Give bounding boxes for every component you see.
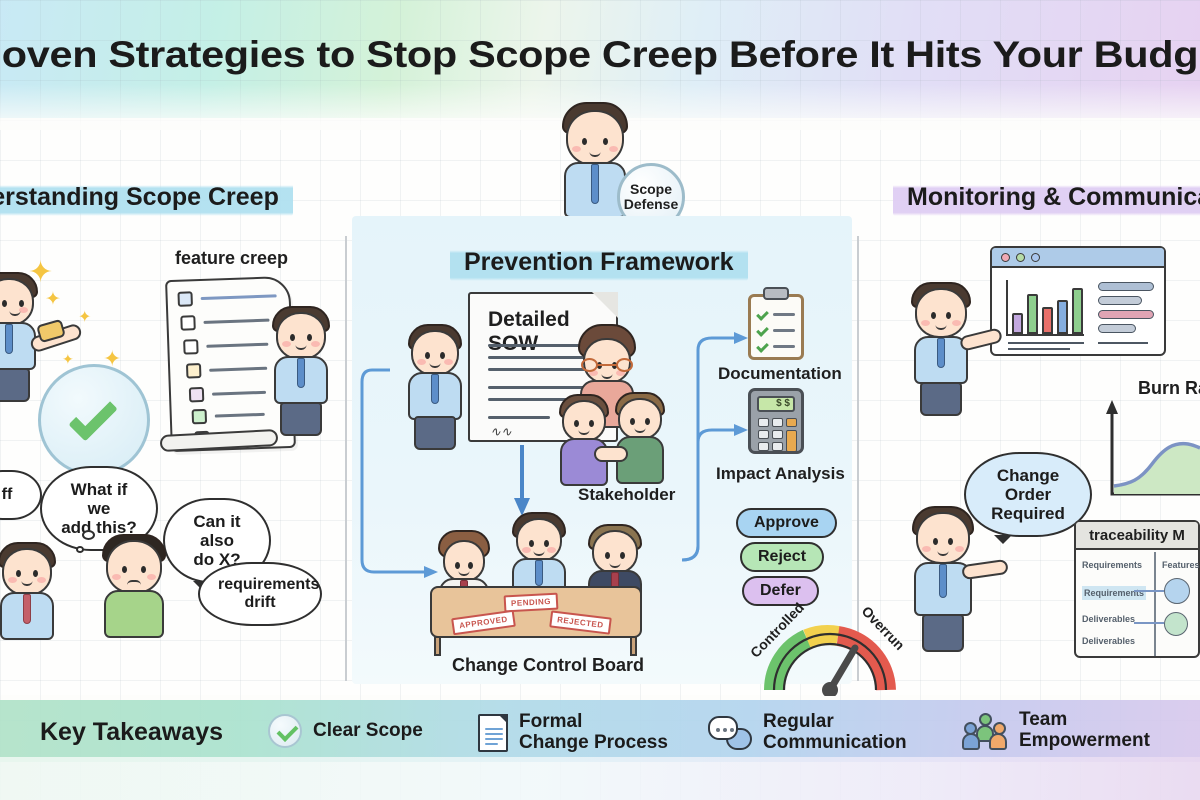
scroll-row	[180, 313, 269, 331]
stakeholder-right-mouth	[635, 428, 646, 433]
dashboard-list-item	[1098, 310, 1154, 319]
sparkle-icon-1: ✦	[28, 258, 53, 288]
change-order-required-bubble: Change Order Required	[964, 452, 1092, 537]
matrix-column-header: Features	[1162, 560, 1200, 570]
page-title: oven Strategies to Stop Scope Creep Befo…	[0, 34, 1200, 76]
documentation-label: Documentation	[718, 364, 842, 384]
scope-health-gauge: Controlled Overrun	[760, 620, 900, 701]
clipboard-row	[757, 311, 795, 318]
presenter-necktie	[431, 374, 439, 404]
monitoring-cheek-l	[922, 546, 931, 552]
calculator-key	[772, 418, 783, 427]
matrix-column-divider	[1154, 552, 1156, 656]
polisher-legs	[0, 368, 30, 402]
chart-bar	[1027, 294, 1038, 334]
decision-pill-reject[interactable]: Reject	[740, 542, 824, 572]
polisher-eye-left	[2, 300, 7, 307]
presenter-head	[411, 330, 459, 376]
sparkle-icon-2: ✦	[45, 290, 61, 309]
scroll-row	[189, 385, 266, 403]
stamp-rejected: REJECTED	[549, 610, 611, 634]
matrix-connector	[1134, 590, 1164, 592]
stakeholder-left-head	[562, 400, 606, 442]
checkbox-icon	[186, 363, 202, 379]
takeaway-formal-change-process: Formal Change Process	[478, 712, 668, 753]
stakeholder-left-eye-l	[574, 420, 579, 427]
clipboard-line	[773, 329, 795, 332]
matrix-row-label: Deliverables	[1082, 636, 1135, 646]
presenter-cheek-left	[417, 359, 426, 365]
sow-signature: ∿∿	[490, 424, 512, 440]
burn-rate-label: Burn Rat	[1138, 378, 1200, 399]
dashboard-footer-line	[1008, 342, 1084, 344]
dash-presenter-mouth	[936, 325, 947, 330]
key-takeaways-title: Key Takeaways	[40, 718, 223, 747]
matrix-title: traceability M	[1076, 522, 1198, 550]
dashboard-list-item	[1098, 282, 1154, 291]
chart-bar	[1012, 313, 1023, 334]
presenter-eye-left	[425, 352, 430, 359]
section-heading-center: Prevention Framework	[450, 245, 748, 282]
scroll-text-line	[209, 367, 267, 372]
monitoring-eye-r	[948, 538, 953, 545]
calculator-key	[772, 430, 783, 439]
holder-eye-right	[307, 334, 312, 341]
matrix-connector	[1134, 622, 1164, 624]
ccb-center-cheek-r	[547, 547, 556, 553]
questioner-necktie	[23, 594, 31, 624]
checkbox-icon	[183, 339, 199, 355]
clean-scope-check-circle	[38, 364, 150, 476]
ccb-left-head	[443, 540, 485, 582]
window-dot-red[interactable]	[1001, 253, 1010, 262]
chat-dot	[730, 728, 734, 732]
scroll-row	[192, 407, 265, 425]
document-line	[485, 728, 503, 730]
document-line	[485, 738, 503, 740]
document-line	[485, 743, 498, 745]
chart-bar	[1072, 288, 1083, 334]
dash-presenter-legs	[920, 382, 962, 416]
calculator-key-equals	[786, 430, 797, 452]
burn-rate-chart	[1100, 398, 1200, 508]
check-icon	[756, 340, 769, 353]
panel-divider-left	[345, 236, 347, 681]
scroll-row	[183, 337, 268, 355]
questioning-character	[0, 548, 60, 688]
clipboard-clip	[763, 287, 789, 300]
checkbox-checked-icon	[192, 409, 208, 425]
stakeholder-right-eye-l	[630, 418, 635, 425]
dashboard-list-item	[1098, 296, 1142, 305]
analyst-mouth	[602, 374, 613, 379]
dash-presenter-cheek-l	[921, 320, 930, 326]
mascot-cheek-right	[609, 146, 618, 152]
questioner-cheek-right	[37, 577, 46, 583]
change-control-board-label: Change Control Board	[452, 655, 644, 676]
decision-pill-approve[interactable]: Approve	[736, 508, 837, 538]
monitoring-character	[908, 512, 978, 672]
monitoring-legs	[922, 614, 964, 652]
questioner-eye-left	[16, 570, 21, 577]
holder-cheek-left	[282, 341, 291, 347]
takeaway-label: Clear Scope	[313, 721, 423, 742]
clipboard-icon	[748, 294, 804, 360]
decision-pill-defer[interactable]: Defer	[742, 576, 819, 606]
check-icon	[756, 324, 769, 337]
checkbox-icon	[180, 315, 196, 331]
scope-defense-line2: Defense	[624, 197, 678, 212]
document-icon	[478, 714, 508, 752]
chat-dot	[716, 728, 720, 732]
scroll-text-line	[201, 294, 277, 300]
monitoring-head	[916, 512, 970, 564]
ccb-right-eye-r	[620, 552, 625, 559]
sow-text-line	[488, 416, 550, 419]
dashboard-footer-line	[1098, 342, 1148, 344]
dash-presenter-eye-r	[946, 312, 951, 319]
holder-eye-left	[290, 334, 295, 341]
feature-creep-label: feature creep	[175, 248, 288, 269]
thought-dot-large	[82, 530, 95, 540]
analyst-glasses	[581, 358, 633, 372]
frustrated-cheek-right	[147, 574, 156, 580]
stakeholder-label: Stakeholder	[578, 485, 675, 505]
monitoring-eye-l	[933, 538, 938, 545]
clipboard-row	[757, 343, 795, 350]
takeaway-regular-communication: Regular Communication	[708, 712, 907, 753]
mascot-necktie	[591, 164, 599, 204]
calculator-key-accent	[786, 418, 797, 427]
scroll-row	[177, 288, 276, 306]
holder-necktie	[297, 358, 305, 388]
takeaway-team-empowerment: Team Empowerment	[962, 710, 1150, 751]
questioner-head	[2, 548, 52, 596]
table-leg-left	[434, 636, 441, 656]
green-check-mark	[68, 392, 117, 441]
scroll-text-line	[215, 413, 265, 418]
calculator-icon: $ $	[748, 388, 804, 454]
chat-dot	[723, 728, 727, 732]
impact-analysis-label: Impact Analysis	[716, 464, 845, 484]
traceability-matrix: traceability M Requirements Requirements…	[1074, 520, 1200, 658]
document-line	[485, 733, 503, 735]
questioner-cheek-left	[8, 577, 17, 583]
questioner-eye-right	[33, 570, 38, 577]
person-body-blue	[962, 733, 980, 750]
ccb-center-cheek-l	[522, 547, 531, 553]
check-circle-icon	[268, 714, 302, 748]
mascot-eye-right	[603, 138, 608, 145]
monitoring-mouth	[938, 551, 949, 556]
monitoring-necktie	[939, 564, 947, 598]
matrix-row-label: Deliverables	[1082, 614, 1135, 624]
scroll-holder-character	[268, 312, 334, 460]
window-dot-blue[interactable]	[1031, 253, 1040, 262]
takeaway-label: Formal Change Process	[519, 712, 668, 753]
frustrated-cheek-left	[112, 574, 121, 580]
calculator-key	[758, 442, 769, 451]
mascot-head	[566, 110, 624, 166]
calculator-display: $ $	[757, 396, 795, 412]
monitoring-cheek-r	[955, 546, 964, 552]
matrix-node-green	[1164, 612, 1188, 636]
calculator-key	[772, 442, 783, 451]
sparkle-icon-5: ✦	[62, 352, 74, 366]
ccb-right-eye-l	[605, 552, 610, 559]
ccb-meeting-table: PENDING APPROVED REJECTED	[430, 586, 642, 638]
presenter-eye-right	[440, 352, 445, 359]
dash-presenter-cheek-r	[952, 320, 961, 326]
scroll-text-line	[206, 343, 268, 348]
chart-bar	[1057, 300, 1068, 334]
polisher-necktie	[5, 324, 13, 354]
holder-legs	[280, 402, 322, 436]
stakeholder-left-mouth	[579, 430, 590, 435]
frustrated-eye-left	[122, 566, 127, 573]
person-body-orange	[989, 733, 1007, 750]
scroll-text-line	[212, 391, 266, 396]
holder-mouth	[296, 345, 307, 350]
frustrated-body	[104, 590, 164, 638]
clipboard-line	[773, 345, 795, 348]
presenter-cheek-right	[444, 359, 453, 365]
chart-bar	[1042, 307, 1053, 334]
matrix-node-blue	[1164, 578, 1190, 604]
stakeholder-right-eye-r	[645, 418, 650, 425]
takeaway-label: Regular Communication	[763, 712, 907, 753]
ccb-center-head	[516, 518, 562, 562]
table-leg-right	[630, 636, 637, 656]
people-icon	[962, 713, 1008, 749]
thought-dot-small	[76, 546, 84, 553]
stamp-approved: APPROVED	[451, 610, 516, 636]
dashboard-footer-line	[1008, 348, 1070, 350]
stakeholder-right-head	[618, 398, 662, 440]
ccb-right-mouth	[610, 563, 621, 568]
speech-bubble-requirements-drift: requirements drift	[198, 562, 322, 626]
scroll-row	[186, 361, 267, 379]
sow-text-line	[488, 368, 586, 371]
holder-cheek-right	[311, 341, 320, 347]
takeaway-clear-scope: Clear Scope	[268, 714, 423, 748]
checkbox-icon	[189, 387, 205, 403]
clipboard-line	[773, 313, 795, 316]
bottom-wash	[0, 757, 1200, 800]
frustrated-head	[106, 540, 162, 594]
holder-head	[276, 312, 326, 360]
polisher-mouth	[9, 311, 20, 316]
person-head-green	[979, 713, 992, 726]
window-dot-green[interactable]	[1016, 253, 1025, 262]
polisher-eye-right	[19, 300, 24, 307]
dashboard-list-item	[1098, 324, 1136, 333]
sparkle-icon-3: ✦	[78, 310, 91, 326]
ccb-center-eye-l	[529, 540, 534, 547]
presenter-mouth	[430, 363, 441, 368]
matrix-row-label-highlighted: Requirements	[1082, 586, 1146, 600]
polishing-character	[0, 278, 42, 428]
ccb-center-mouth	[534, 551, 545, 556]
mascot-eye-left	[582, 138, 587, 145]
dash-presenter-eye-l	[931, 312, 936, 319]
scope-defense-line1: Scope	[630, 182, 672, 197]
presenter-legs	[414, 416, 456, 450]
frustrated-mouth	[127, 580, 141, 585]
takeaway-label: Team Empowerment	[1019, 710, 1150, 751]
chat-bubbles-icon	[708, 716, 752, 750]
ccb-left-mouth	[459, 571, 470, 576]
ccb-left-eye-r	[468, 562, 473, 569]
matrix-row-label: Requirements	[1082, 560, 1142, 570]
calculator-key	[758, 418, 769, 427]
ccb-left-eye-l	[455, 562, 460, 569]
polisher-cheek	[19, 307, 28, 313]
dashboard-presenter-character	[908, 288, 974, 438]
stakeholder-left-eye-r	[589, 420, 594, 427]
questioner-mouth	[22, 581, 33, 586]
scroll-text-line	[203, 319, 269, 324]
dashboard-bar-chart	[1006, 280, 1084, 336]
presenter-character	[404, 330, 466, 470]
clipboard-row	[757, 327, 795, 334]
checkbox-icon	[177, 291, 193, 307]
mascot-mouth	[590, 152, 601, 157]
chat-bubble-front	[708, 716, 738, 740]
mascot-cheek-left	[572, 146, 581, 152]
section-heading-right: Monitoring & Communica	[893, 180, 1200, 217]
dashboard-window[interactable]	[990, 246, 1166, 356]
handshake-icon	[594, 446, 628, 462]
dash-presenter-head	[915, 288, 967, 338]
frustrated-eye-right	[141, 566, 146, 573]
ccb-center-necktie	[535, 560, 543, 586]
ccb-right-head	[592, 530, 638, 574]
section-heading-left: derstanding Scope Creep	[0, 180, 293, 217]
calculator-key	[758, 430, 769, 439]
dash-presenter-necktie	[937, 338, 945, 368]
ccb-center-eye-r	[544, 540, 549, 547]
sparkle-icon-4: ✦	[103, 348, 121, 370]
frustrated-character	[98, 540, 170, 690]
check-icon	[756, 308, 769, 321]
